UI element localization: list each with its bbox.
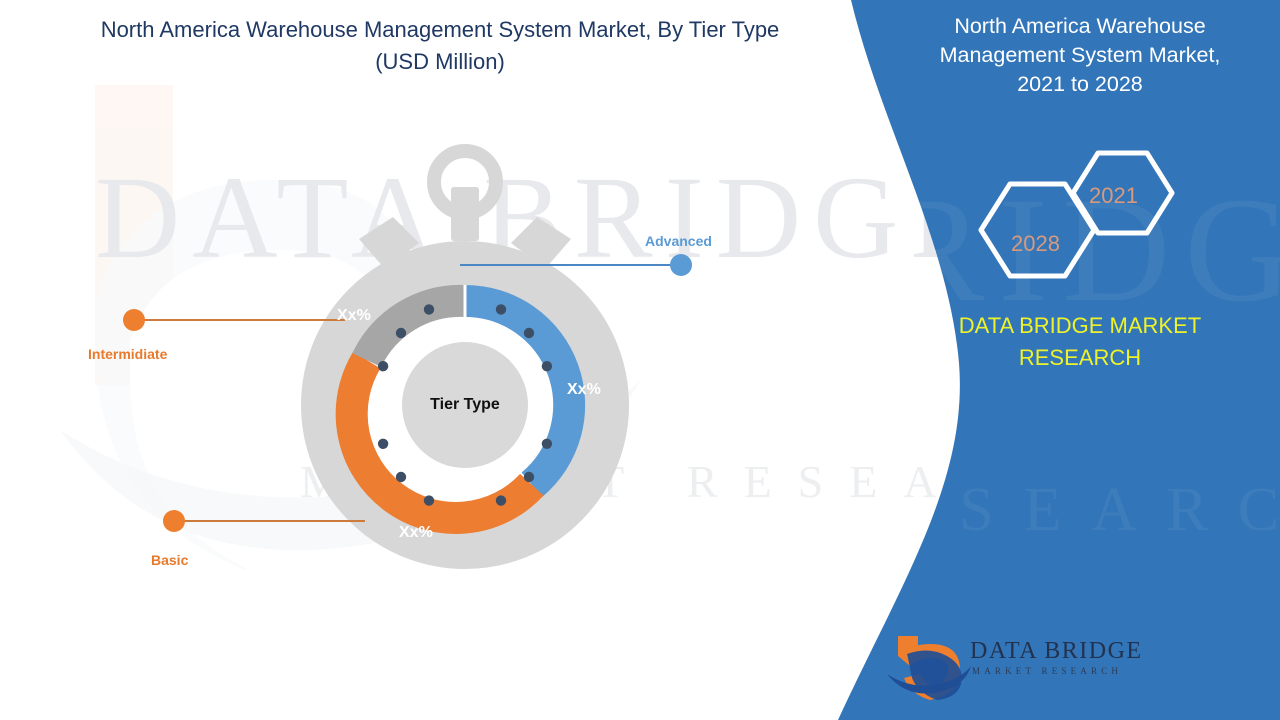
callout-label-basic: Basic [151,552,188,568]
hexagon-group: 2021 2028 [965,140,1185,305]
slice-value-advanced: Xx% [567,381,601,399]
panel-title: North America Warehouse Management Syste… [905,12,1255,99]
slice-value-intermidiate: Xx% [337,307,371,325]
callout-label-intermidiate: Intermidiate [88,346,167,362]
hexagon-2028-label: 2028 [1011,231,1060,257]
stopwatch-crown-icon [434,151,496,241]
panel-title-line-2: Management System Market, [905,41,1255,70]
panel-title-line-1: North America Warehouse [905,12,1255,41]
chart-title-line-1: North America Warehouse Management Syste… [40,14,840,46]
data-bridge-logo-icon [885,632,975,702]
hexagon-2021-label: 2021 [1089,183,1138,209]
panel-title-line-3: 2021 to 2028 [905,70,1255,99]
chart-title: North America Warehouse Management Syste… [40,14,840,78]
center-label: Tier Type [255,396,675,414]
chart-title-line-2: (USD Million) [40,46,840,78]
svg-text:RESEARCH: RESEARCH [820,476,1280,544]
data-bridge-logo: DATA BRIDGE MARKET RESEARCH [885,632,975,707]
infographic-page: DATA BRIDGE MARKET RESEARCH North Americ… [0,0,1280,720]
donut-chart [255,135,675,580]
brand-name-line-2: RESEARCH [930,342,1230,374]
stopwatch-donut-graphic [255,135,675,575]
brand-name: DATA BRIDGE MARKET RESEARCH [930,310,1230,374]
logo-text-sub: MARKET RESEARCH [972,666,1122,676]
slice-value-basic: Xx% [399,524,433,542]
brand-name-line-1: DATA BRIDGE MARKET [930,310,1230,342]
logo-text-main: DATA BRIDGE [970,638,1143,665]
hexagon-shapes-icon [965,140,1185,300]
callout-label-advanced: Advanced [645,233,712,249]
